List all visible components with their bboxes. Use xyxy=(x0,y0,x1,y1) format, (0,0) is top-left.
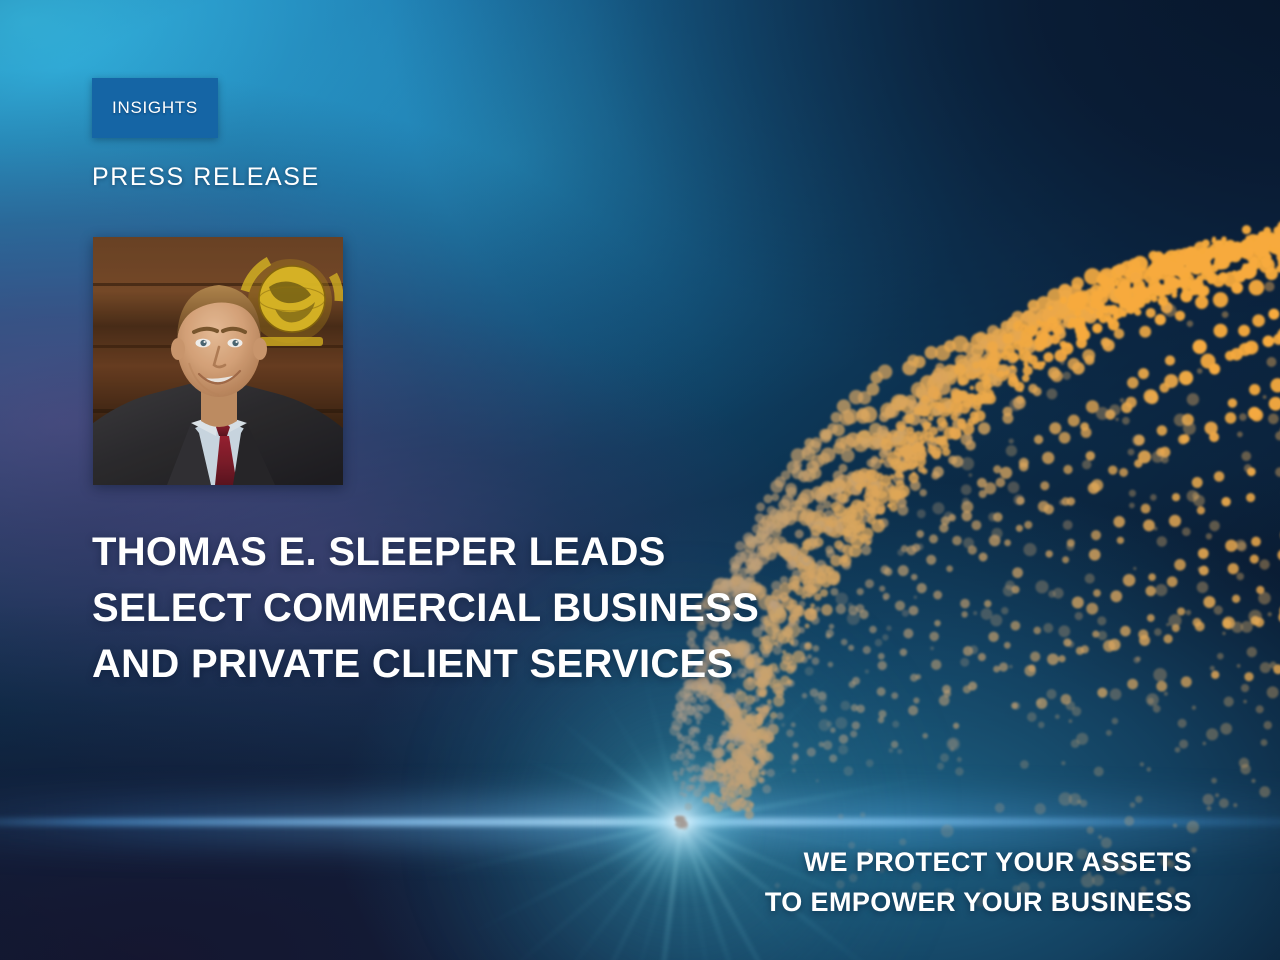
tagline-line-2: TO EMPOWER YOUR BUSINESS xyxy=(765,882,1192,922)
headline-line-1: THOMAS E. SLEEPER LEADS xyxy=(92,524,812,580)
headline: THOMAS E. SLEEPER LEADS SELECT COMMERCIA… xyxy=(92,524,812,692)
press-release-banner: INSIGHTS PRESS RELEASE Headshot of a smi… xyxy=(0,0,1280,960)
press-release-kicker: PRESS RELEASE xyxy=(92,163,320,192)
tagline: WE PROTECT YOUR ASSETS TO EMPOWER YOUR B… xyxy=(765,842,1192,922)
portrait-photo: Headshot of a smiling man in a dark suit… xyxy=(93,237,343,485)
tagline-line-1: WE PROTECT YOUR ASSETS xyxy=(765,842,1192,882)
headline-line-3: AND PRIVATE CLIENT SERVICES xyxy=(92,636,812,692)
insights-badge[interactable]: INSIGHTS xyxy=(92,78,218,138)
insights-badge-label: INSIGHTS xyxy=(112,98,198,118)
headline-line-2: SELECT COMMERCIAL BUSINESS xyxy=(92,580,812,636)
